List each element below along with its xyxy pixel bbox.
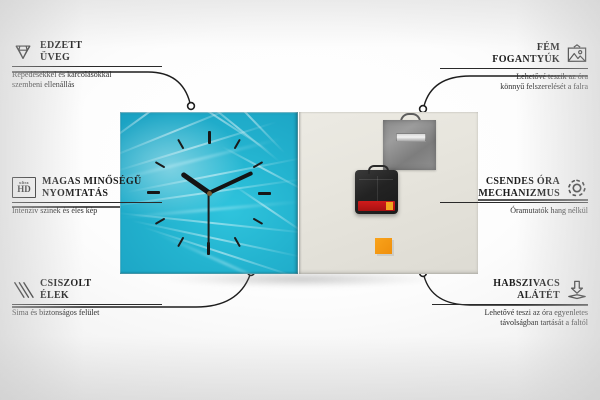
diamond-icon — [12, 42, 34, 62]
mechanism-seam-vertical — [377, 176, 378, 204]
callout-tempered-glass: EDZETT ÜVEG Repedésekkel és karcolásokka… — [12, 40, 162, 90]
callout-title-line2: NYOMTATÁS — [42, 188, 141, 200]
callout-high-quality-print: ultra HD MAGAS MINŐSÉGŰ NYOMTATÁS Intenz… — [12, 176, 162, 216]
callout-title-line1: EDZETT — [40, 40, 82, 52]
mechanism-handle — [368, 165, 389, 174]
connector-dot-top-left — [188, 103, 195, 110]
callout-divider — [432, 304, 588, 305]
callout-description-line2: szembeni ellenállás — [12, 80, 162, 90]
polished-edges-icon — [12, 280, 34, 300]
infographic-canvas: EDZETT ÜVEG Repedésekkel és karcolásokka… — [0, 0, 600, 400]
callout-head: ultra HD MAGAS MINŐSÉGŰ NYOMTATÁS — [12, 176, 162, 199]
callout-title-line2: FOGANTYÚK — [440, 54, 560, 66]
callout-description-line2: távolságban tartását a faltól — [432, 318, 588, 328]
wall-clock-product — [120, 112, 478, 274]
callout-description-line1: Óramutatók hang nélkül — [440, 206, 588, 216]
callout-head: EDZETT ÜVEG — [12, 40, 162, 63]
foam-pad-arrow-icon — [566, 280, 588, 300]
callout-description-line1: Repedésekkel és karcolásokkal — [12, 70, 162, 80]
callout-metal-handles: FÉM FOGANTYÚK Lehetővé teszik az óra kön… — [440, 42, 588, 92]
callout-description-line2: könnyű felszerelését a falra — [440, 82, 588, 92]
callout-description-line1: Intenzív színek és éles kép — [12, 206, 162, 216]
callout-title-line2: ÉLEK — [40, 290, 92, 302]
callout-title-line2: ALÁTÉT — [432, 290, 560, 302]
callout-description-line1: Sima és biztonságos felület — [12, 308, 162, 318]
callout-description-line1: Lehetővé teszik az óra — [440, 72, 588, 82]
callout-description-line1: Lehetővé teszi az óra egyenletes — [432, 308, 588, 318]
callout-title-line1: HABSZIVACS — [432, 278, 560, 290]
callout-divider — [12, 66, 162, 67]
picture-frame-hanger-icon — [566, 44, 588, 64]
clock-mechanism — [355, 170, 398, 214]
callout-head: CSISZOLT ÉLEK — [12, 278, 162, 301]
callout-head: FÉM FOGANTYÚK — [440, 42, 588, 65]
gear-icon — [566, 178, 588, 198]
callout-polished-edges: CSISZOLT ÉLEK Sima és biztonságos felüle… — [12, 278, 162, 318]
callout-divider — [440, 68, 588, 69]
callout-title-line1: CSISZOLT — [40, 278, 92, 290]
foam-pad — [375, 238, 392, 254]
callout-head: CSENDES ÓRA MECHANIZMUS — [440, 176, 588, 199]
callout-divider — [12, 202, 162, 203]
callout-foam-pad: HABSZIVACS ALÁTÉT Lehetővé teszi az óra … — [432, 278, 588, 328]
callout-title-line2: ÜVEG — [40, 52, 82, 64]
callout-silent-mechanism: CSENDES ÓRA MECHANIZMUS Óramutatók hang … — [440, 176, 588, 216]
ultra-hd-icon: ultra HD — [12, 177, 36, 198]
callout-head: HABSZIVACS ALÁTÉT — [432, 278, 588, 301]
mechanism-seam — [359, 179, 393, 180]
mechanism-label — [358, 201, 395, 211]
callout-title-line1: MAGAS MINŐSÉGŰ — [42, 176, 141, 188]
callout-divider — [12, 304, 162, 305]
ultra-hd-large-text: HD — [17, 185, 31, 194]
callout-divider — [440, 202, 588, 203]
metal-hanger-plate — [383, 120, 436, 170]
callout-title-line1: CSENDES ÓRA — [440, 176, 560, 188]
callout-title-line1: FÉM — [440, 42, 560, 54]
callout-title-line2: MECHANIZMUS — [440, 188, 560, 200]
